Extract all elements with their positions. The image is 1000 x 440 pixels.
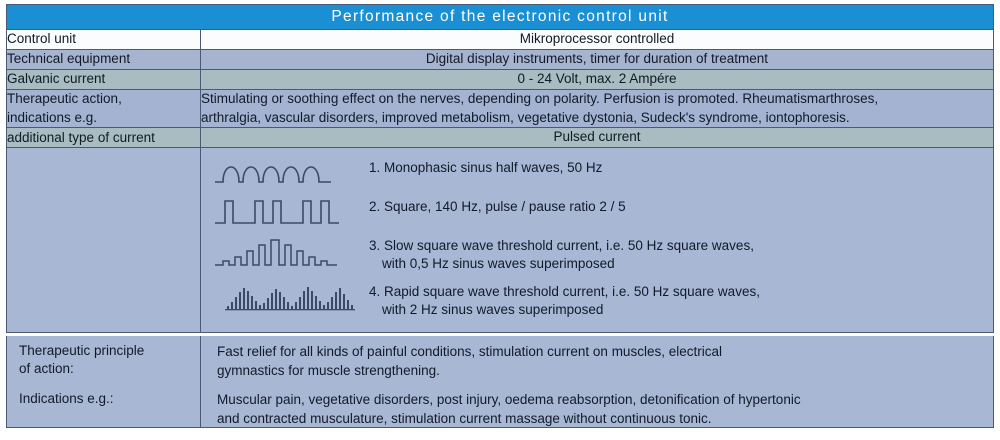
waveform-text-line-1: 4. Rapid square wave threshold current, … [369,283,760,301]
table-row: Control unit Mikroprocessor controlled [7,30,994,50]
row-value-technical-equipment: Digital display instruments, timer for d… [201,49,994,69]
row-label-galvanic-current: Galvanic current [7,69,201,89]
waveform-description: 4. Rapid square wave threshold current, … [369,282,760,319]
label-indications: Indications e.g.: [7,390,201,408]
label-line-2: of action: [19,360,201,378]
waveform-text-line-1: 3. Slow square wave threshold current, i… [369,237,754,255]
row-label-spacer [7,148,201,332]
text-therapeutic-principle: Fast relief for all kinds of painful con… [201,342,722,380]
waveform-item: 4. Rapid square wave threshold current, … [201,282,993,319]
table-title-row: Performance of the electronic control un… [7,5,994,30]
label-therapeutic-principle: Therapeutic principle of action: [7,342,201,378]
waveform-item: 3. Slow square wave threshold current, i… [201,236,993,273]
table-bottom-border [6,427,994,428]
text-line-1: Fast relief for all kinds of painful con… [217,342,722,361]
indications-row: Indications e.g.: Muscular pain, vegetat… [7,390,993,428]
bottom-paragraph-block: Therapeutic principle of action: Fast re… [7,336,993,428]
label-line-1: Therapeutic action, [7,90,200,108]
row-value-galvanic-current: 0 - 24 Volt, max. 2 Ampére [201,69,994,89]
waveform-text-line-2: with 0,5 Hz sinus waves superimposed [369,255,754,273]
waveform-list: 1. Monophasic sinus half waves, 50 Hz 2.… [201,148,993,331]
text-indications: Muscular pain, vegetative disorders, pos… [201,390,801,428]
waveform-description: 1. Monophasic sinus half waves, 50 Hz [369,158,602,177]
waveform-list-cell: 1. Monophasic sinus half waves, 50 Hz 2.… [201,148,994,332]
row-label-additional-current: additional type of current [7,128,201,148]
value-line-1: Stimulating or soothing effect on the ne… [201,90,993,109]
therapeutic-principle-row: Therapeutic principle of action: Fast re… [7,342,993,380]
square-wave-icon [213,197,357,227]
row-value-therapeutic-action: Stimulating or soothing effect on the ne… [201,89,994,128]
row-value-control-unit: Mikroprocessor controlled [201,30,994,50]
table-row: additional type of current Pulsed curren… [7,128,994,148]
waveform-item: 2. Square, 140 Hz, pulse / pause ratio 2… [201,197,993,227]
text-line-2: gymnastics for muscle strengthening. [217,361,722,380]
text-line-2: and contracted musculature, stimulation … [217,409,801,428]
waveform-description: 3. Slow square wave threshold current, i… [369,236,754,273]
row-label-control-unit: Control unit [7,30,201,50]
sine-half-wave-icon [213,158,357,188]
text-line-1: Muscular pain, vegetative disorders, pos… [217,390,801,409]
table-row: Galvanic current 0 - 24 Volt, max. 2 Amp… [7,69,994,89]
waveform-text-line-1: 2. Square, 140 Hz, pulse / pause ratio 2… [369,198,626,216]
waveform-text-line-1: 1. Monophasic sinus half waves, 50 Hz [369,159,602,177]
table-row-waveforms: 1. Monophasic sinus half waves, 50 Hz 2.… [7,148,994,332]
waveform-description: 2. Square, 140 Hz, pulse / pause ratio 2… [369,197,626,216]
row-value-additional-current: Pulsed current [201,128,994,148]
table-row: Therapeutic action, indications e.g. Sti… [7,89,994,128]
row-label-therapeutic-action: Therapeutic action, indications e.g. [7,89,201,128]
slow-modulated-square-icon [213,236,357,266]
label-line-1: Therapeutic principle [19,342,201,360]
page-title: Performance of the electronic control un… [7,5,994,30]
waveform-item: 1. Monophasic sinus half waves, 50 Hz [201,158,993,188]
table-row: Technical equipment Digital display inst… [7,49,994,69]
rapid-modulated-square-icon [213,282,357,312]
label-line-2: indications e.g. [7,109,200,127]
row-label-technical-equipment: Technical equipment [7,49,201,69]
performance-spec-table: Performance of the electronic control un… [6,4,994,333]
value-line-2: arthralgia, vascular disorders, improved… [201,109,993,128]
waveform-text-line-2: with 2 Hz sinus waves superimposed [369,301,760,319]
